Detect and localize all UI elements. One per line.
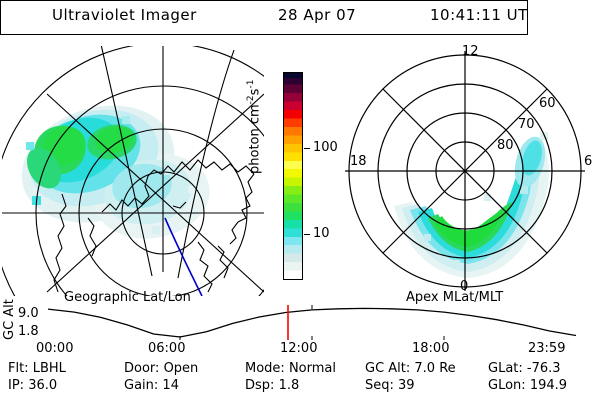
- status-glat-value: -76.3: [527, 361, 561, 376]
- geographic-polar-plot[interactable]: [2, 46, 264, 296]
- status-mode: Mode: Normal: [245, 361, 336, 376]
- status-gcalt-label: GC Alt:: [365, 361, 410, 376]
- strip-x-tick-4: 23:59: [528, 341, 565, 356]
- status-gcalt-value: 7.0 Re: [414, 361, 455, 376]
- status-ip-value: 36.0: [28, 378, 57, 393]
- geographic-plot-caption: Geographic Lat/Lon: [64, 290, 191, 305]
- status-flt-label: Flt:: [8, 361, 29, 376]
- strip-x-tick-0: 00:00: [36, 341, 73, 356]
- strip-y-axis-title: GC Alt: [2, 299, 17, 340]
- status-glat: GLat: -76.3: [488, 361, 561, 376]
- geographic-plot-canvas: [2, 46, 264, 296]
- magnetic-plot-caption: Apex MLat/MLT: [406, 290, 503, 305]
- observation-date: 28 Apr 07: [278, 6, 356, 24]
- status-door: Door: Open: [124, 361, 198, 376]
- uvi-summary-plot: Ultraviolet Imager 28 Apr 07 10:41:11 UT: [0, 0, 600, 400]
- status-gain-value: 14: [162, 378, 179, 393]
- colorbar-tick-100: [304, 148, 310, 149]
- colorbar-axis-label-mid: s: [247, 89, 262, 96]
- status-door-value: Open: [164, 361, 199, 376]
- mlat-label-70: 70: [518, 117, 535, 132]
- status-dsp-value: 1.8: [279, 378, 300, 393]
- status-glon: GLon: 194.9: [488, 378, 567, 393]
- status-glon-label: GLon:: [488, 378, 526, 393]
- status-gain-label: Gain:: [124, 378, 158, 393]
- colorbar-exp-1: -2: [246, 95, 256, 104]
- observation-time: 10:41:11 UT: [430, 6, 528, 24]
- status-gain: Gain: 14: [124, 378, 179, 393]
- gc-altitude-curve: [48, 308, 576, 337]
- colorbar-tick-10: [304, 234, 310, 235]
- status-ip-label: IP:: [8, 378, 24, 393]
- status-dsp: Dsp: 1.8: [245, 378, 299, 393]
- mlt-label-18: 18: [350, 154, 367, 169]
- status-seq-value: 39: [398, 378, 415, 393]
- strip-x-tick-3: 18:00: [412, 341, 449, 356]
- instrument-title: Ultraviolet Imager: [52, 6, 197, 24]
- magnetic-polar-plot[interactable]: 12 6 0 18 60 70 80: [334, 46, 596, 296]
- colorbar-exp-2: -1: [246, 80, 256, 89]
- status-gcalt: GC Alt: 7.0 Re: [365, 361, 456, 376]
- header: Ultraviolet Imager 28 Apr 07 10:41:11 UT: [0, 6, 600, 30]
- colorbar-label-10: 10: [313, 226, 330, 241]
- mlt-label-6: 6: [584, 154, 592, 169]
- colorbar: [283, 72, 303, 280]
- status-flt-value: LBHL: [33, 361, 66, 376]
- mlt-label-12: 12: [462, 44, 479, 59]
- status-seq-label: Seq:: [365, 378, 394, 393]
- strip-y-tick-high: 9.0: [18, 306, 39, 321]
- magnetic-grid: [345, 51, 585, 291]
- status-dsp-label: Dsp:: [245, 378, 274, 393]
- status-ip: IP: 36.0: [8, 378, 57, 393]
- strip-x-tick-1: 06:00: [148, 341, 185, 356]
- strip-y-tick-low: 1.8: [18, 324, 39, 339]
- status-door-label: Door:: [124, 361, 159, 376]
- mlat-label-80: 80: [497, 138, 514, 153]
- status-mode-label: Mode:: [245, 361, 285, 376]
- status-row-1: Flt: LBHL Door: Open Mode: Normal GC Alt…: [0, 361, 600, 378]
- status-mode-value: Normal: [289, 361, 336, 376]
- status-seq: Seq: 39: [365, 378, 415, 393]
- colorbar-axis-label: photon cm-2s-1: [246, 80, 262, 174]
- colorbar-gradient: [283, 72, 303, 280]
- strip-x-tick-2: 12:00: [280, 341, 317, 356]
- status-glon-value: 194.9: [530, 378, 567, 393]
- aurora-emission-geographic: [7, 87, 217, 248]
- magnetic-plot-canvas: [334, 46, 596, 296]
- status-block: Flt: LBHL Door: Open Mode: Normal GC Alt…: [0, 361, 600, 395]
- colorbar-axis-label-text: photon cm: [247, 104, 262, 174]
- mlat-label-60: 60: [539, 96, 556, 111]
- status-flt: Flt: LBHL: [8, 361, 66, 376]
- strip-plot-canvas: [48, 305, 576, 340]
- status-row-2: IP: 36.0 Gain: 14 Dsp: 1.8 Seq: 39 GLon:…: [0, 378, 600, 395]
- status-glat-label: GLat:: [488, 361, 523, 376]
